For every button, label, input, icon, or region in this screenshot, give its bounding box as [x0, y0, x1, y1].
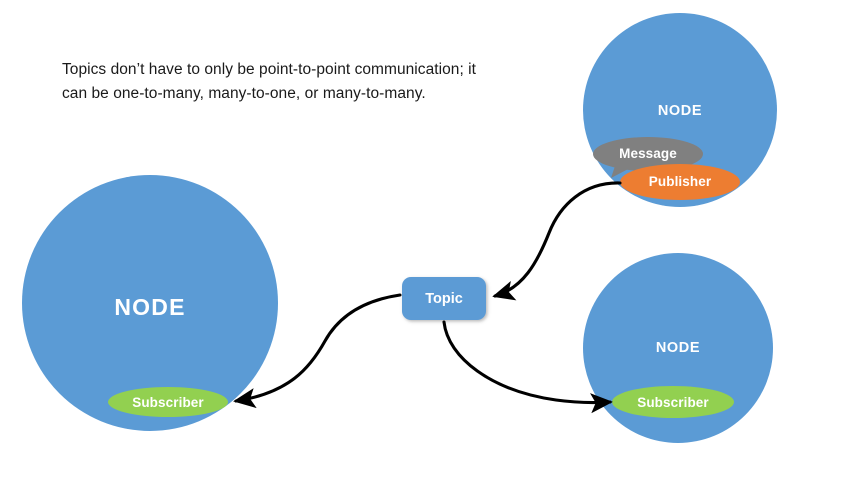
caption-text: Topics don’t have to only be point-to-po…: [62, 58, 482, 105]
right-subscriber-node-group[interactable]: [583, 253, 773, 443]
connector-publisher-to-topic: [495, 183, 620, 296]
left-subscriber-ellipse[interactable]: [108, 387, 228, 417]
publisher-ellipse[interactable]: [620, 164, 740, 200]
slide-canvas: Topics don’t have to only be point-to-po…: [0, 0, 854, 480]
left-subscriber-node-group[interactable]: [22, 175, 278, 431]
right-subscriber-ellipse[interactable]: [612, 386, 734, 418]
publisher-node-group[interactable]: [583, 13, 777, 207]
topic-box-group[interactable]: [402, 277, 486, 320]
topic-box[interactable]: [402, 277, 486, 320]
